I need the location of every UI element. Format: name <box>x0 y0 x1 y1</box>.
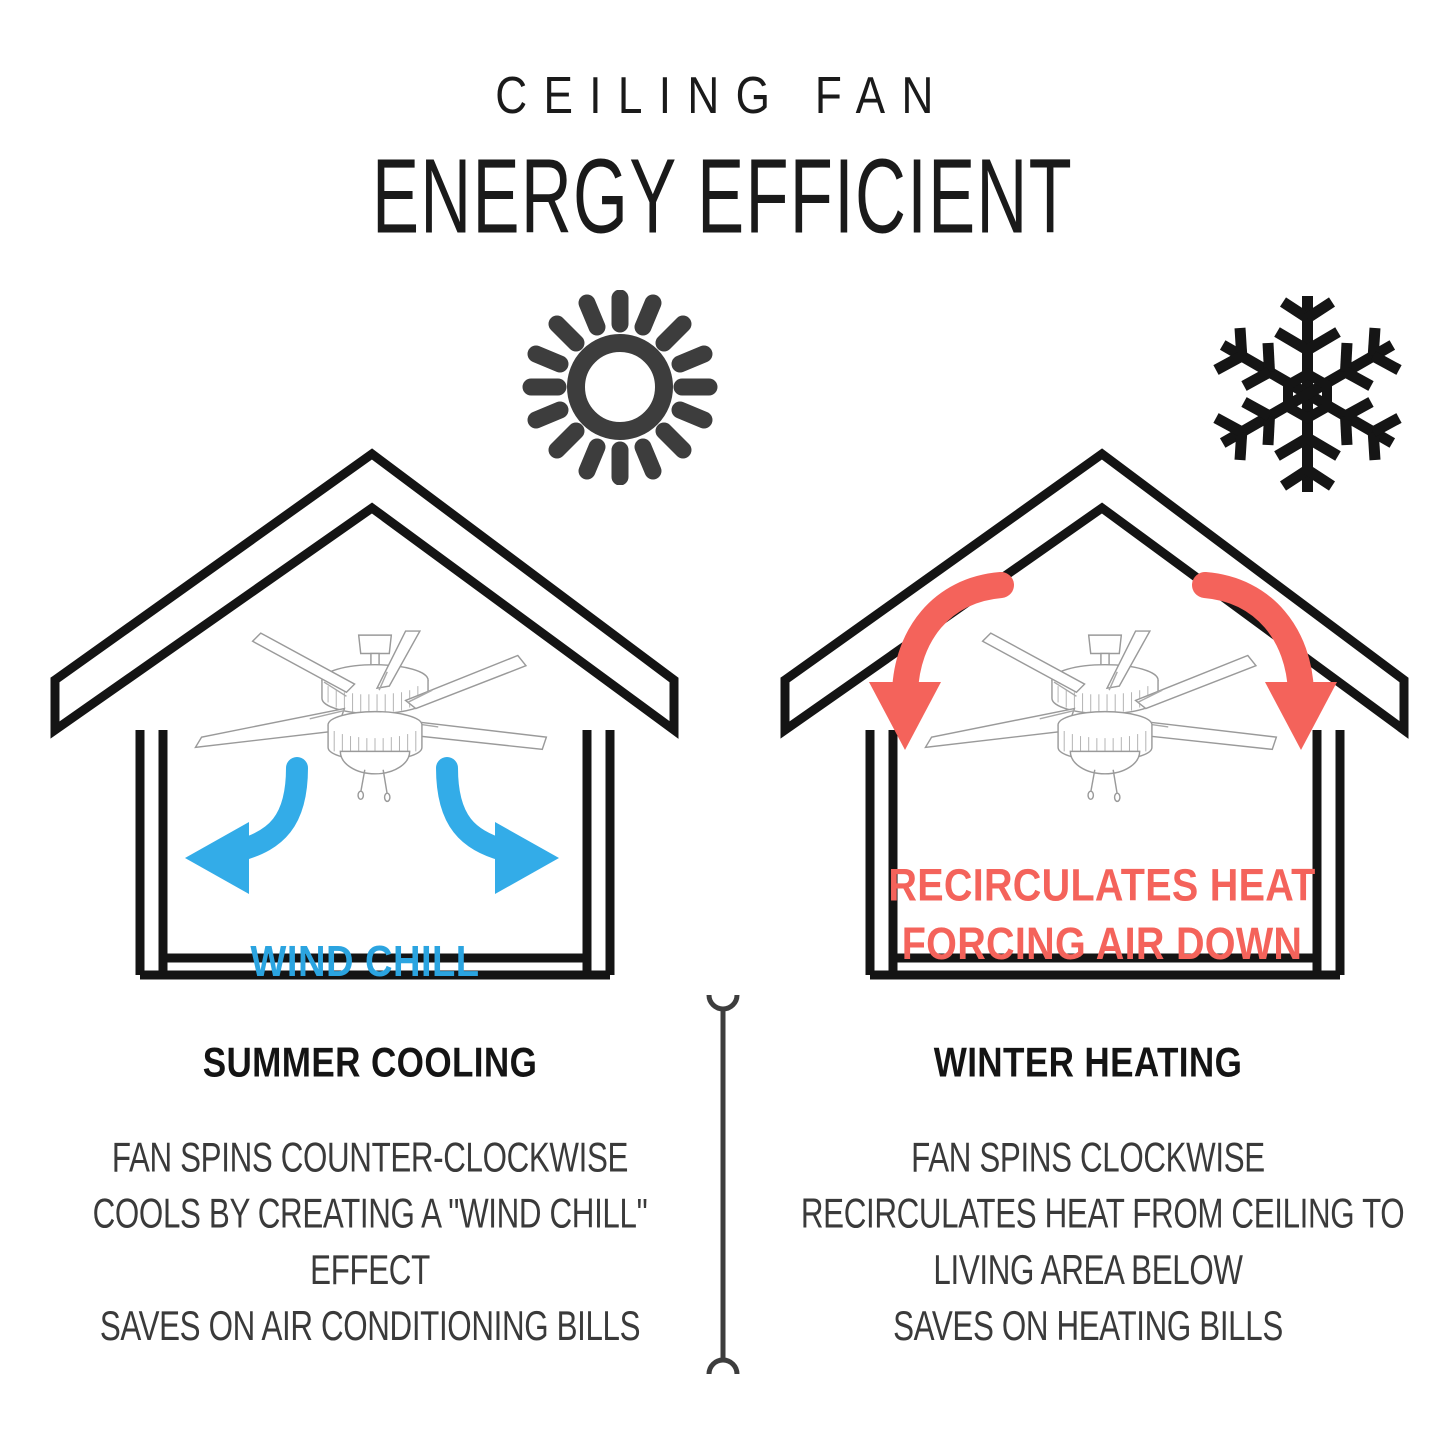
winter-heading: WINTER HEATING <box>791 1040 1385 1088</box>
summer-body-line-2: COOLS BY CREATING A "WIND CHILL" <box>83 1185 657 1241</box>
winter-body: FAN SPINS CLOCKWISE RECIRCULATES HEAT FR… <box>801 1085 1375 1354</box>
infographic-canvas: CEILING FAN ENERGY EFFICIENT <box>0 0 1445 1445</box>
winter-body-line-1: FAN SPINS CLOCKWISE <box>801 1129 1375 1185</box>
winter-callout-line1: RECIRCULATES HEAT <box>888 860 1315 911</box>
summer-heading: SUMMER COOLING <box>73 1040 667 1088</box>
ceiling-fan-icon <box>195 631 546 801</box>
winter-body-line-2: RECIRCULATES HEAT FROM CEILING TO <box>801 1185 1375 1241</box>
airflow-arrows-blue <box>241 768 503 850</box>
summer-body-line-4: SAVES ON AIR CONDITIONING BILLS <box>83 1297 657 1353</box>
ceiling-fan-icon <box>925 631 1276 801</box>
summer-body-line-1: FAN SPINS COUNTER-CLOCKWISE <box>83 1129 657 1185</box>
summer-house-scene: WIND CHILL <box>35 430 695 1010</box>
summer-callout-label: WIND CHILL <box>250 937 479 986</box>
winter-body-line-3: LIVING AREA BELOW <box>801 1241 1375 1297</box>
header: CEILING FAN ENERGY EFFICIENT <box>0 0 1445 220</box>
summer-body-line-3: EFFECT <box>83 1241 657 1297</box>
summer-text-column: SUMMER COOLING FAN SPINS COUNTER-CLOCKWI… <box>40 1040 700 1314</box>
winter-body-line-4: SAVES ON HEATING BILLS <box>801 1297 1375 1353</box>
page-title: ENERGY EFFICIENT <box>116 108 1330 249</box>
winter-house-scene: RECIRCULATES HEAT FORCING AIR DOWN <box>765 430 1425 1010</box>
vertical-divider <box>700 980 746 1390</box>
summer-body: FAN SPINS COUNTER-CLOCKWISE COOLS BY CRE… <box>83 1085 657 1354</box>
page-kicker: CEILING FAN <box>29 0 1416 121</box>
winter-callout-line2: FORCING AIR DOWN <box>902 918 1303 969</box>
winter-text-column: WINTER HEATING FAN SPINS CLOCKWISE RECIR… <box>758 1040 1418 1314</box>
airflow-arrowheads-blue <box>185 822 559 894</box>
